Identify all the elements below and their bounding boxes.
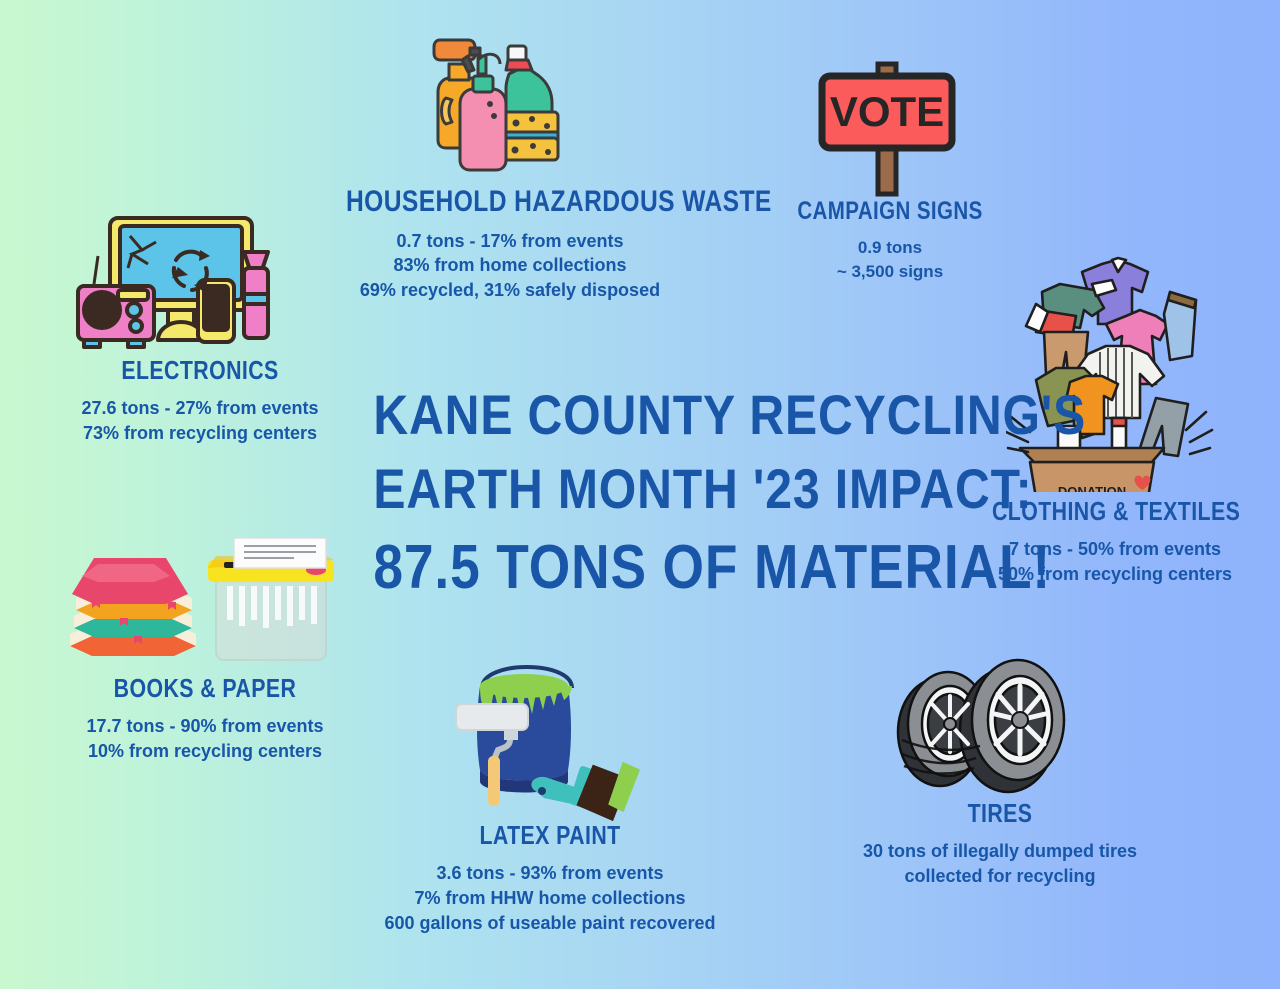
headline-line-1: KANE COUNTY RECYCLING'S (373, 378, 906, 452)
stat-line: 600 gallons of useable paint recovered (370, 911, 730, 936)
stat-line: ~ 3,500 signs (760, 260, 1020, 283)
paint-can-icon (438, 652, 654, 822)
electronics-icon (72, 198, 278, 363)
category-title: HOUSEHOLD HAZARDOUS WASTE (346, 186, 674, 218)
books-and-shredder-icon (58, 538, 352, 678)
category-stats: 27.6 tons - 27% from events 73% from rec… (45, 396, 355, 446)
donation-box-clothes-icon: DONATION (1006, 248, 1214, 492)
stat-line: 10% from recycling centers (50, 739, 360, 764)
stat-line: collected for recycling (840, 864, 1160, 889)
category-tires: TIRES 30 tons of illegally dumped tires … (840, 800, 1160, 889)
cleaning-products-icon (416, 26, 576, 186)
headline-line-3: 87.5 TONS OF MATERIAL! (373, 527, 906, 609)
category-stats: 0.9 tons ~ 3,500 signs (760, 236, 1020, 283)
vote-sign-label: VOTE (830, 88, 944, 135)
category-stats: 3.6 tons - 93% from events 7% from HHW h… (370, 861, 730, 935)
page-title: KANE COUNTY RECYCLING'S EARTH MONTH '23 … (330, 378, 950, 609)
category-electronics: ELECTRONICS 27.6 tons - 27% from events … (45, 357, 355, 446)
stat-line: 0.9 tons (760, 236, 1020, 259)
category-household-hazardous-waste: HOUSEHOLD HAZARDOUS WASTE 0.7 tons - 17%… (310, 186, 710, 303)
stat-line: 27.6 tons - 27% from events (45, 396, 355, 421)
tires-icon (878, 648, 1082, 806)
category-stats: 30 tons of illegally dumped tires collec… (840, 839, 1160, 889)
category-stats: 17.7 tons - 90% from events 10% from rec… (50, 714, 360, 764)
stat-line: 83% from home collections (310, 253, 710, 278)
infographic-canvas: VOTE (0, 0, 1280, 989)
category-latex-paint: LATEX PAINT 3.6 tons - 93% from events 7… (370, 822, 730, 936)
category-title: CAMPAIGN SIGNS (783, 198, 996, 224)
category-title: LATEX PAINT (402, 822, 697, 849)
stat-line: 73% from recycling centers (45, 421, 355, 446)
headline-line-2: EARTH MONTH '23 IMPACT: (373, 452, 906, 526)
donation-box-label: DONATION (1058, 484, 1126, 492)
category-books-paper: BOOKS & PAPER 17.7 tons - 90% from event… (50, 675, 360, 764)
category-title: BOOKS & PAPER (78, 675, 332, 702)
stat-line: 30 tons of illegally dumped tires (840, 839, 1160, 864)
category-title: ELECTRONICS (73, 357, 327, 384)
category-campaign-signs: CAMPAIGN SIGNS 0.9 tons ~ 3,500 signs (760, 198, 1020, 283)
category-stats: 0.7 tons - 17% from events 83% from home… (310, 229, 710, 303)
stat-line: 7% from HHW home collections (370, 886, 730, 911)
stat-line: 3.6 tons - 93% from events (370, 861, 730, 886)
stat-line: 69% recycled, 31% safely disposed (310, 278, 710, 303)
vote-sign-icon: VOTE (812, 58, 962, 198)
stat-line: 0.7 tons - 17% from events (310, 229, 710, 254)
stat-line: 17.7 tons - 90% from events (50, 714, 360, 739)
category-title: TIRES (869, 800, 1131, 827)
